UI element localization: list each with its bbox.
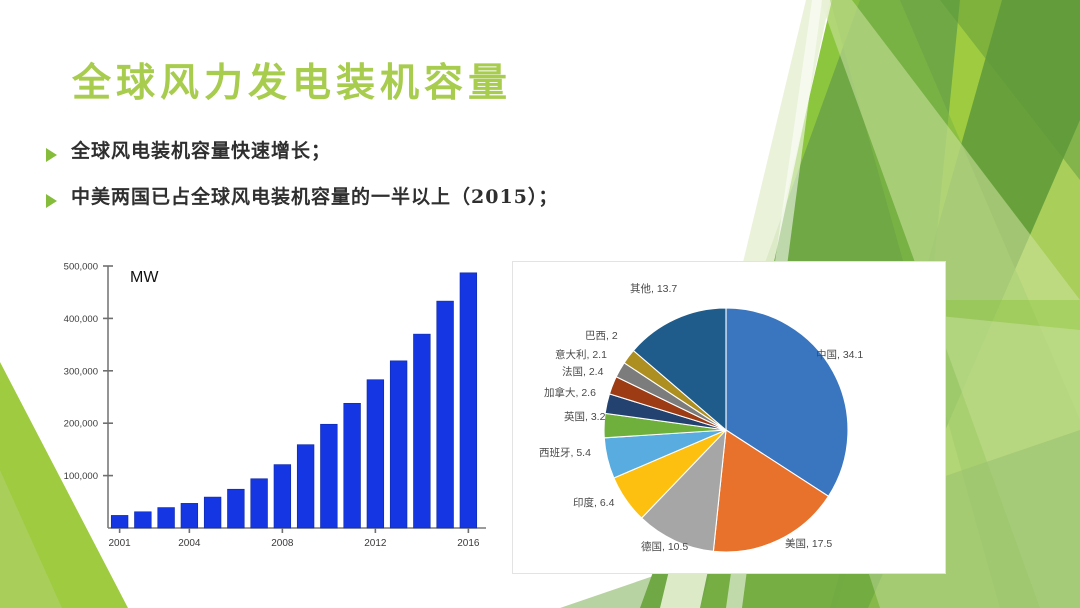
slide-canvas: 全球风力发电装机容量 全球风电装机容量快速增长； 中美两国已占全球风电装机容量的… (0, 0, 1080, 608)
pie-chart-svg: 中国, 34.1美国, 17.5德国, 10.5印度, 6.4西班牙, 5.4英… (513, 262, 945, 573)
triangle-bullet-icon (46, 194, 57, 208)
pie-slice-label: 印度, 6.4 (573, 496, 615, 509)
y-axis-tick-label: 300,000 (64, 366, 98, 377)
bar-rect (437, 301, 454, 528)
y-axis-tick-label: 400,000 (64, 314, 98, 325)
bar-chart-global-wind-capacity: 100,000200,000300,000400,000500,000MW200… (30, 250, 500, 570)
x-axis-tick-label: 2008 (271, 538, 294, 549)
triangle-bullet-icon (46, 148, 57, 162)
bullet-item-text: 全球风电装机容量快速增长； (71, 140, 331, 164)
x-axis-tick-label: 2012 (364, 538, 387, 549)
bar-rect (367, 380, 384, 528)
x-axis-tick-label: 2001 (109, 538, 132, 549)
bar-rect (321, 424, 338, 528)
pie-slice-label: 巴西, 2 (585, 330, 618, 342)
pie-chart-panel-country-share: 中国, 34.1美国, 17.5德国, 10.5印度, 6.4西班牙, 5.4英… (512, 261, 946, 574)
chart-unit-label: MW (130, 269, 159, 286)
bullet-item: 全球风电装机容量快速增长； (46, 140, 806, 164)
pie-slice-label: 西班牙, 5.4 (539, 447, 591, 459)
pie-slice-label: 加拿大, 2.6 (544, 386, 596, 399)
bar-rect (297, 445, 314, 528)
bar-rect (390, 361, 407, 528)
bar-rect (158, 508, 175, 528)
bullet-list: 全球风电装机容量快速增长； 中美两国已占全球风电装机容量的一半以上（2015）； (46, 140, 806, 232)
bar-rect (274, 465, 291, 528)
pie-slice-label: 意大利, 2.1 (555, 348, 607, 361)
pie-slice-label: 法国, 2.4 (562, 365, 604, 378)
page-title: 全球风力发电装机容量 (72, 52, 512, 108)
x-axis-tick-label: 2004 (178, 538, 201, 549)
bar-rect (111, 515, 128, 528)
bar-rect (204, 497, 221, 528)
pie-slice-label: 其他, 13.7 (630, 282, 677, 295)
bar-rect (344, 403, 361, 528)
bullet-item: 中美两国已占全球风电装机容量的一半以上（2015）； (46, 186, 806, 210)
bar-rect (460, 273, 477, 528)
pie-slice-label: 德国, 10.5 (641, 540, 688, 553)
pie-slice-label: 英国, 3.2 (564, 410, 606, 423)
bar-chart-svg: 100,000200,000300,000400,000500,000MW200… (30, 250, 500, 570)
bar-rect (181, 503, 198, 528)
pie-slice-label: 美国, 17.5 (785, 537, 832, 550)
bar-rect (228, 489, 245, 528)
y-axis-tick-label: 200,000 (64, 419, 98, 430)
y-axis-tick-label: 500,000 (64, 262, 98, 273)
bar-rect (135, 512, 152, 528)
bullet-item-text: 中美两国已占全球风电装机容量的一半以上（2015）； (71, 186, 558, 210)
x-axis-tick-label: 2016 (457, 538, 480, 549)
y-axis-tick-label: 100,000 (64, 471, 98, 482)
pie-slice-label: 中国, 34.1 (816, 348, 863, 361)
bar-rect (251, 479, 268, 528)
bar-rect (414, 334, 431, 528)
